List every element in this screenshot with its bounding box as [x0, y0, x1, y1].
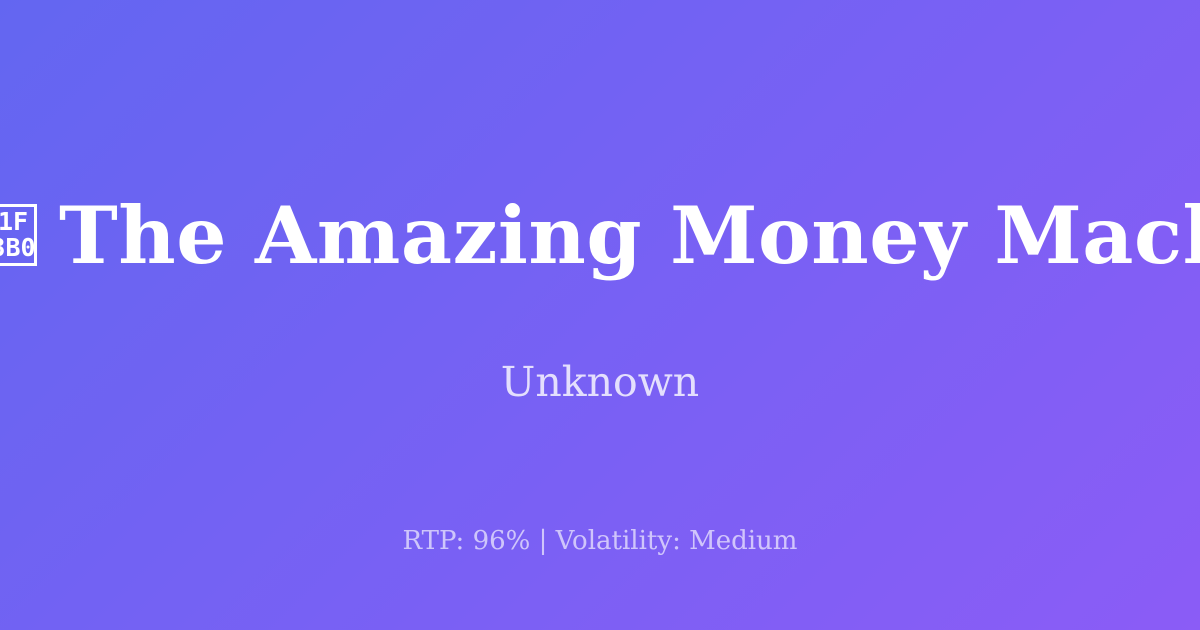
meta-space-1 — [464, 526, 472, 556]
tofu-codepoint-row-bottom: 3B0 — [0, 235, 36, 261]
volatility-value: Medium — [689, 526, 797, 556]
rtp-label: RTP: — [403, 526, 465, 556]
tofu-codepoint-row-top: 1F — [0, 209, 28, 235]
meta-separator: | — [530, 526, 555, 556]
rtp-value: 96% — [473, 526, 531, 556]
meta-space-2 — [681, 526, 689, 556]
subtitle-provider: Unknown — [0, 362, 1200, 403]
title-line: 1F 3B0 The Amazing Money Machine — [0, 0, 1200, 588]
volatility-label: Volatility: — [556, 526, 681, 556]
slot-machine-icon: 1F 3B0 — [0, 204, 37, 266]
game-meta-line: RTP: 96% | Volatility: Medium — [0, 528, 1200, 554]
page-title: The Amazing Money Machine — [59, 196, 1200, 275]
og-preview-card: 1F 3B0 The Amazing Money Machine Unknown… — [0, 0, 1200, 630]
